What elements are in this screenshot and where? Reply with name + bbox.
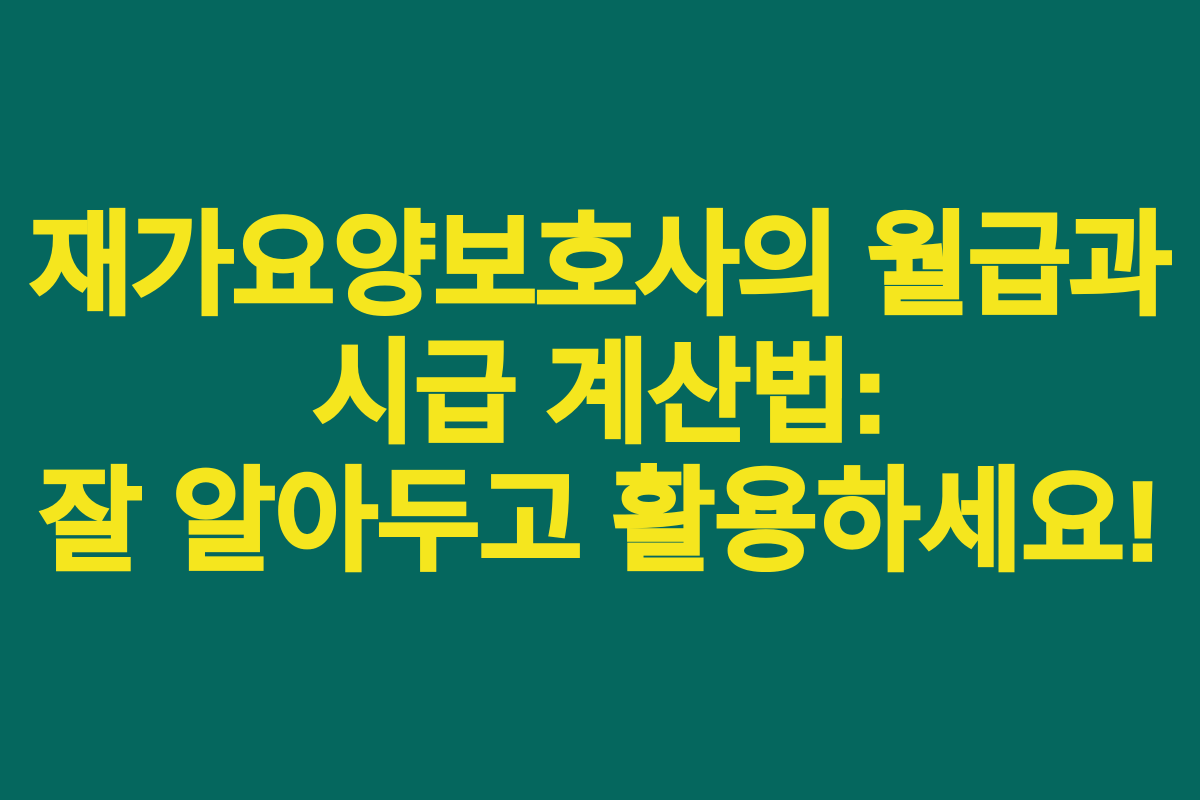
title-card: 재가요양보호사의 월급과 시급 계산법: 잘 알아두고 활용하세요! — [0, 0, 1200, 800]
title-line-2: 시급 계산법: — [28, 330, 1172, 458]
title-line-3: 잘 알아두고 활용하세요! — [28, 458, 1172, 586]
title-line-1: 재가요양보호사의 월급과 — [28, 202, 1172, 330]
page-title: 재가요양보호사의 월급과 시급 계산법: 잘 알아두고 활용하세요! — [0, 202, 1200, 585]
